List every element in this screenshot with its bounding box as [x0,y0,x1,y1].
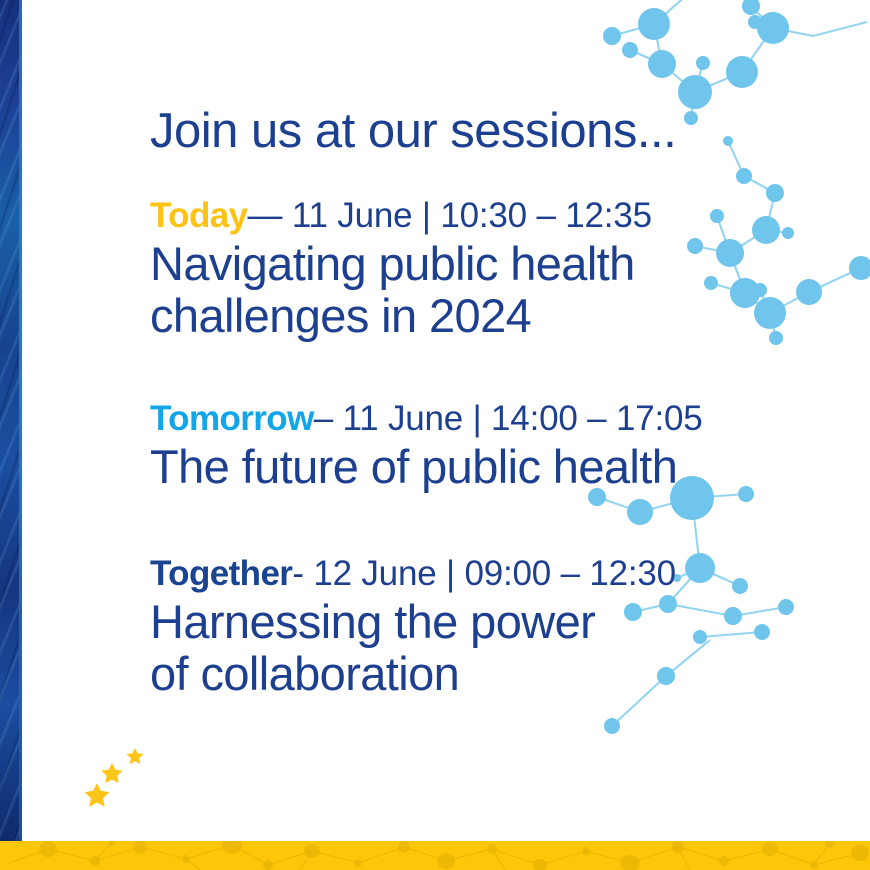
session-divider: | [473,399,482,438]
session-time: 10:30 – 12:35 [440,196,652,235]
session-date: 11 June [292,196,413,235]
session-day-label: Tomorrow [150,399,314,438]
session-divider: | [446,554,455,593]
session-meta: Today— 11 June | 10:30 – 12:35 [150,195,850,236]
star-small-icon [127,748,144,764]
session-time: 09:00 – 12:30 [464,554,676,593]
session-item: Today— 11 June | 10:30 – 12:35 Navigatin… [150,195,850,340]
session-separator: – [314,399,333,438]
bottom-yellow-band [0,841,870,870]
session-date: 11 June [343,399,464,438]
session-title-line: Navigating public health [150,239,850,289]
session-meta: Together- 12 June | 09:00 – 12:30 [150,553,850,594]
session-time: 14:00 – 17:05 [491,399,703,438]
star-medium-icon [101,763,122,783]
star-large-icon [85,783,110,807]
session-title-line: challenges in 2024 [150,291,850,341]
session-divider: | [422,196,431,235]
promo-card: Join us at our sessions... Today— 11 Jun… [0,0,870,870]
session-meta: Tomorrow– 11 June | 14:00 – 17:05 [150,398,850,439]
session-day-label: Together [150,554,292,593]
session-title-line: of collaboration [150,649,850,699]
page-title: Join us at our sessions... [150,106,850,157]
session-separator: - [292,554,303,593]
left-stripe-edge [19,0,22,841]
session-item: Tomorrow– 11 June | 14:00 – 17:05 The fu… [150,398,850,491]
session-separator: — [247,196,282,235]
content-block: Join us at our sessions... Today— 11 Jun… [150,106,850,698]
session-title-line: The future of public health [150,442,850,492]
session-title-line: Harnessing the power [150,597,850,647]
band-network-pattern [0,841,870,870]
star-cluster [78,742,158,812]
session-item: Together- 12 June | 09:00 – 12:30 Harnes… [150,553,850,698]
session-day-label: Today [150,196,247,235]
session-date: 12 June [313,554,436,593]
